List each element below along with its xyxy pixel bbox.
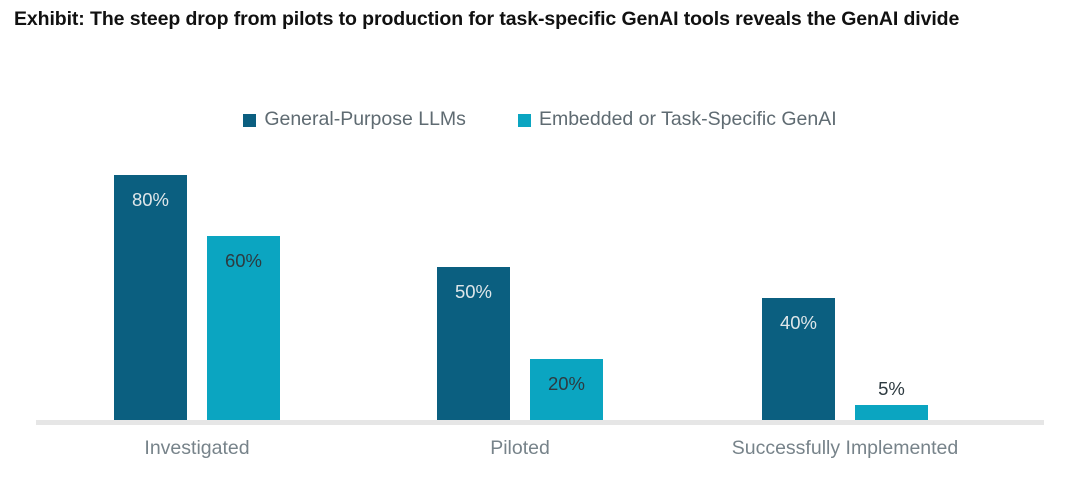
chart-plot-area: 80%60%50%20%40%5% [0,160,1080,425]
bar[interactable]: 80% [114,175,187,420]
square-swatch-icon [518,114,531,127]
x-axis-category-labels: InvestigatedPilotedSuccessfully Implemen… [0,437,1080,467]
bar-value-label: 40% [762,312,835,334]
legend-item-label: Embedded or Task-Specific GenAI [539,108,837,131]
bar-value-label: 60% [207,250,280,272]
bar-value-label: 80% [114,189,187,211]
x-axis-line [36,420,1044,425]
bar[interactable]: 50% [437,267,510,420]
bar[interactable]: 60% [207,236,280,420]
bar[interactable]: 40% [762,298,835,420]
legend-item-embedded-or-task-specific-genai[interactable]: Embedded or Task-Specific GenAI [518,108,837,131]
bar-value-label: 20% [530,373,603,395]
page-title: Exhibit: The steep drop from pilots to p… [14,6,1064,34]
legend-item-general-purpose-llms[interactable]: General-Purpose LLMs [243,108,466,131]
legend-item-label: General-Purpose LLMs [264,108,466,131]
bars-layer: 80%60%50%20%40%5% [0,160,1080,420]
bar[interactable]: 20% [530,359,603,420]
square-swatch-icon [243,114,256,127]
bar-value-label: 50% [437,281,510,303]
bar-value-label: 5% [855,378,928,400]
category-axis-label: Piloted [340,437,700,460]
bar[interactable]: 5% [855,405,928,420]
category-axis-label: Investigated [17,437,377,460]
chart-legend: General-Purpose LLMs Embedded or Task-Sp… [0,108,1080,131]
category-axis-label: Successfully Implemented [665,437,1025,460]
